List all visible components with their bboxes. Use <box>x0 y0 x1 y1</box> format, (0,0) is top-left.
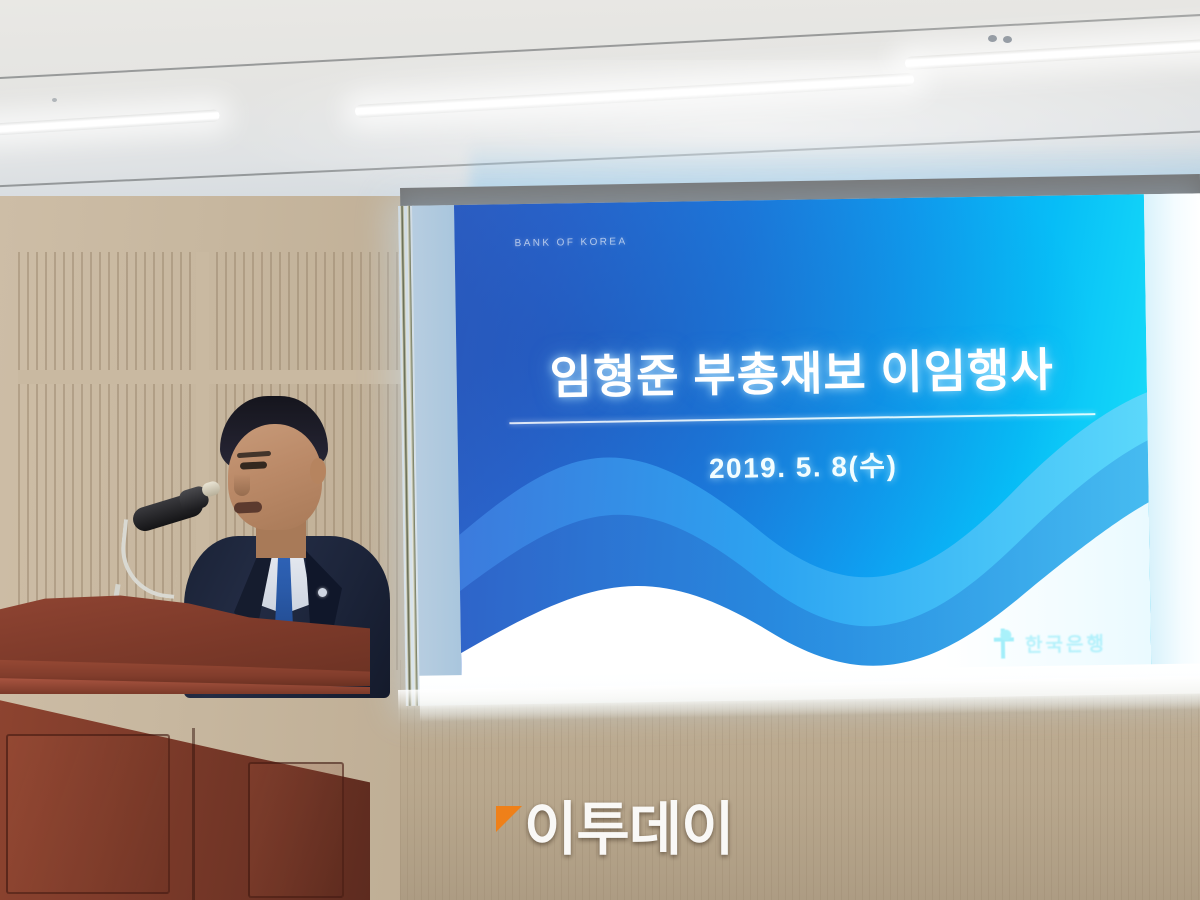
ceiling-fixture-dot <box>988 35 997 42</box>
podium-panel <box>6 734 170 894</box>
ceiling-fixture-dot <box>52 98 57 102</box>
bank-of-korea-logo-icon <box>994 628 1014 658</box>
speaker-eye <box>240 461 267 469</box>
podium-corner-seam <box>192 728 195 900</box>
watermark-quote-icon <box>496 806 522 832</box>
podium-panel <box>248 762 344 898</box>
speaker-ear <box>310 458 326 484</box>
watermark-text: 이투데이 <box>524 802 733 858</box>
speaker-mouth <box>234 501 263 513</box>
slat-panel-seam <box>18 370 418 384</box>
podium-top <box>0 594 370 672</box>
ceiling-fixture-dot <box>1003 36 1012 43</box>
slide-brand-eyebrow: BANK OF KOREA <box>515 236 628 249</box>
slide-logo: 한국은행 <box>994 627 1107 659</box>
photo-stage: BANK OF KOREA 임형준 부총재보 이임행사 2019. 5. 8(수… <box>0 0 1200 900</box>
projection-letterbox-left <box>412 205 462 686</box>
watermark: 이투데이 <box>496 802 733 858</box>
slide-title: 임형준 부총재보 이임행사 <box>456 332 1147 409</box>
podium <box>0 594 370 900</box>
projection-screen: BANK OF KOREA 임형준 부총재보 이임행사 2019. 5. 8(수… <box>398 193 1200 706</box>
presentation-slide: BANK OF KOREA 임형준 부총재보 이임행사 2019. 5. 8(수… <box>454 194 1151 685</box>
microphone-gooseneck <box>116 519 181 599</box>
projection-letterbox-right <box>1144 193 1200 684</box>
slide-logo-text: 한국은행 <box>1025 628 1107 656</box>
